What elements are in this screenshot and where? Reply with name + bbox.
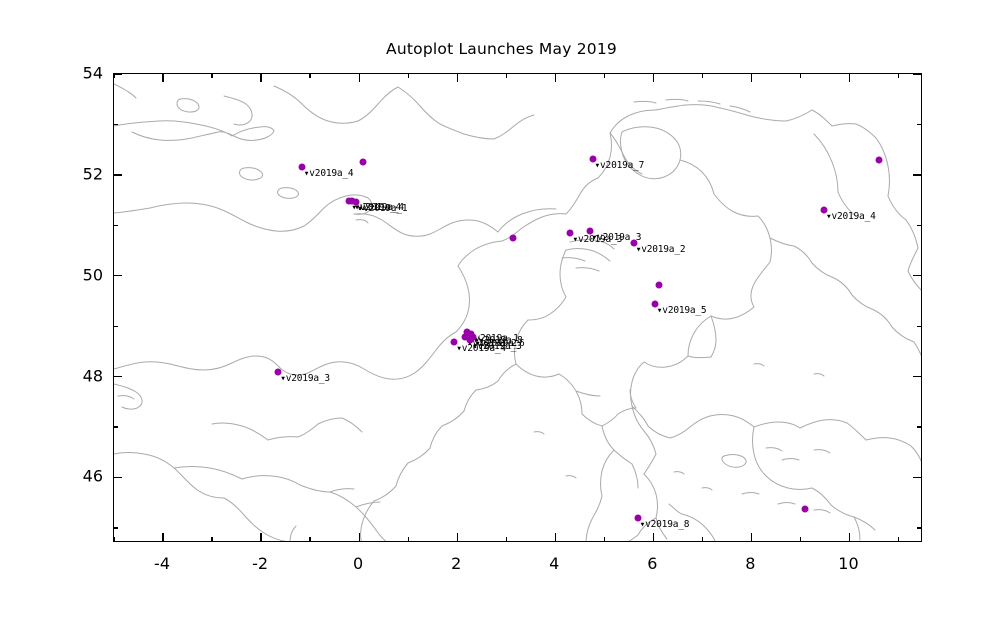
- x-major-tick: [849, 533, 850, 541]
- y-minor-tick: [917, 326, 921, 327]
- y-major-tick: [114, 275, 122, 276]
- y-major-tick: [913, 477, 921, 478]
- x-tick-label: -2: [252, 554, 268, 573]
- x-minor-tick: [898, 537, 899, 541]
- y-minor-tick: [917, 527, 921, 528]
- x-tick-label: 8: [745, 554, 755, 573]
- y-tick-label: 48: [83, 366, 103, 385]
- x-major-tick: [260, 74, 261, 82]
- x-minor-tick: [113, 537, 114, 541]
- y-minor-tick: [917, 124, 921, 125]
- x-minor-tick: [113, 74, 114, 78]
- y-tick-label: 50: [83, 265, 103, 284]
- y-major-tick: [114, 477, 122, 478]
- plot-axes: [113, 73, 922, 542]
- x-minor-tick: [898, 74, 899, 78]
- page-title: Autoplot Launches May 2019: [0, 40, 1003, 58]
- x-minor-tick: [309, 74, 310, 78]
- x-tick-label: 6: [647, 554, 657, 573]
- x-major-tick: [457, 533, 458, 541]
- figure-canvas: Autoplot Launches May 2019: [0, 0, 1003, 633]
- x-minor-tick: [800, 537, 801, 541]
- x-major-tick: [162, 74, 163, 82]
- x-tick-label: 10: [838, 554, 858, 573]
- x-major-tick: [849, 74, 850, 82]
- y-minor-tick: [114, 527, 118, 528]
- x-major-tick: [653, 74, 654, 82]
- y-major-tick: [114, 73, 122, 74]
- x-minor-tick: [309, 537, 310, 541]
- x-major-tick: [555, 533, 556, 541]
- x-major-tick: [260, 533, 261, 541]
- x-major-tick: [653, 533, 654, 541]
- y-minor-tick: [917, 426, 921, 427]
- x-tick-label: 4: [549, 554, 559, 573]
- x-minor-tick: [506, 537, 507, 541]
- basemap-coastlines: [114, 74, 922, 542]
- x-minor-tick: [800, 74, 801, 78]
- y-tick-label: 54: [83, 64, 103, 83]
- x-major-tick: [457, 74, 458, 82]
- x-minor-tick: [211, 537, 212, 541]
- x-major-tick: [555, 74, 556, 82]
- x-tick-label: 2: [451, 554, 461, 573]
- x-major-tick: [751, 533, 752, 541]
- x-minor-tick: [408, 74, 409, 78]
- y-tick-label: 46: [83, 467, 103, 486]
- y-major-tick: [913, 275, 921, 276]
- x-major-tick: [162, 533, 163, 541]
- y-major-tick: [114, 174, 122, 175]
- y-major-tick: [913, 174, 921, 175]
- y-minor-tick: [114, 124, 118, 125]
- x-minor-tick: [211, 74, 212, 78]
- y-major-tick: [913, 73, 921, 74]
- x-tick-label: 0: [353, 554, 363, 573]
- x-minor-tick: [702, 537, 703, 541]
- x-major-tick: [751, 74, 752, 82]
- y-minor-tick: [917, 225, 921, 226]
- y-tick-label: 52: [83, 164, 103, 183]
- x-tick-label: -4: [154, 554, 170, 573]
- x-minor-tick: [506, 74, 507, 78]
- y-major-tick: [913, 376, 921, 377]
- x-minor-tick: [604, 74, 605, 78]
- y-minor-tick: [114, 225, 118, 226]
- x-major-tick: [359, 533, 360, 541]
- y-major-tick: [114, 376, 122, 377]
- y-minor-tick: [114, 326, 118, 327]
- x-minor-tick: [408, 537, 409, 541]
- y-minor-tick: [114, 426, 118, 427]
- x-major-tick: [359, 74, 360, 82]
- x-minor-tick: [604, 537, 605, 541]
- x-minor-tick: [702, 74, 703, 78]
